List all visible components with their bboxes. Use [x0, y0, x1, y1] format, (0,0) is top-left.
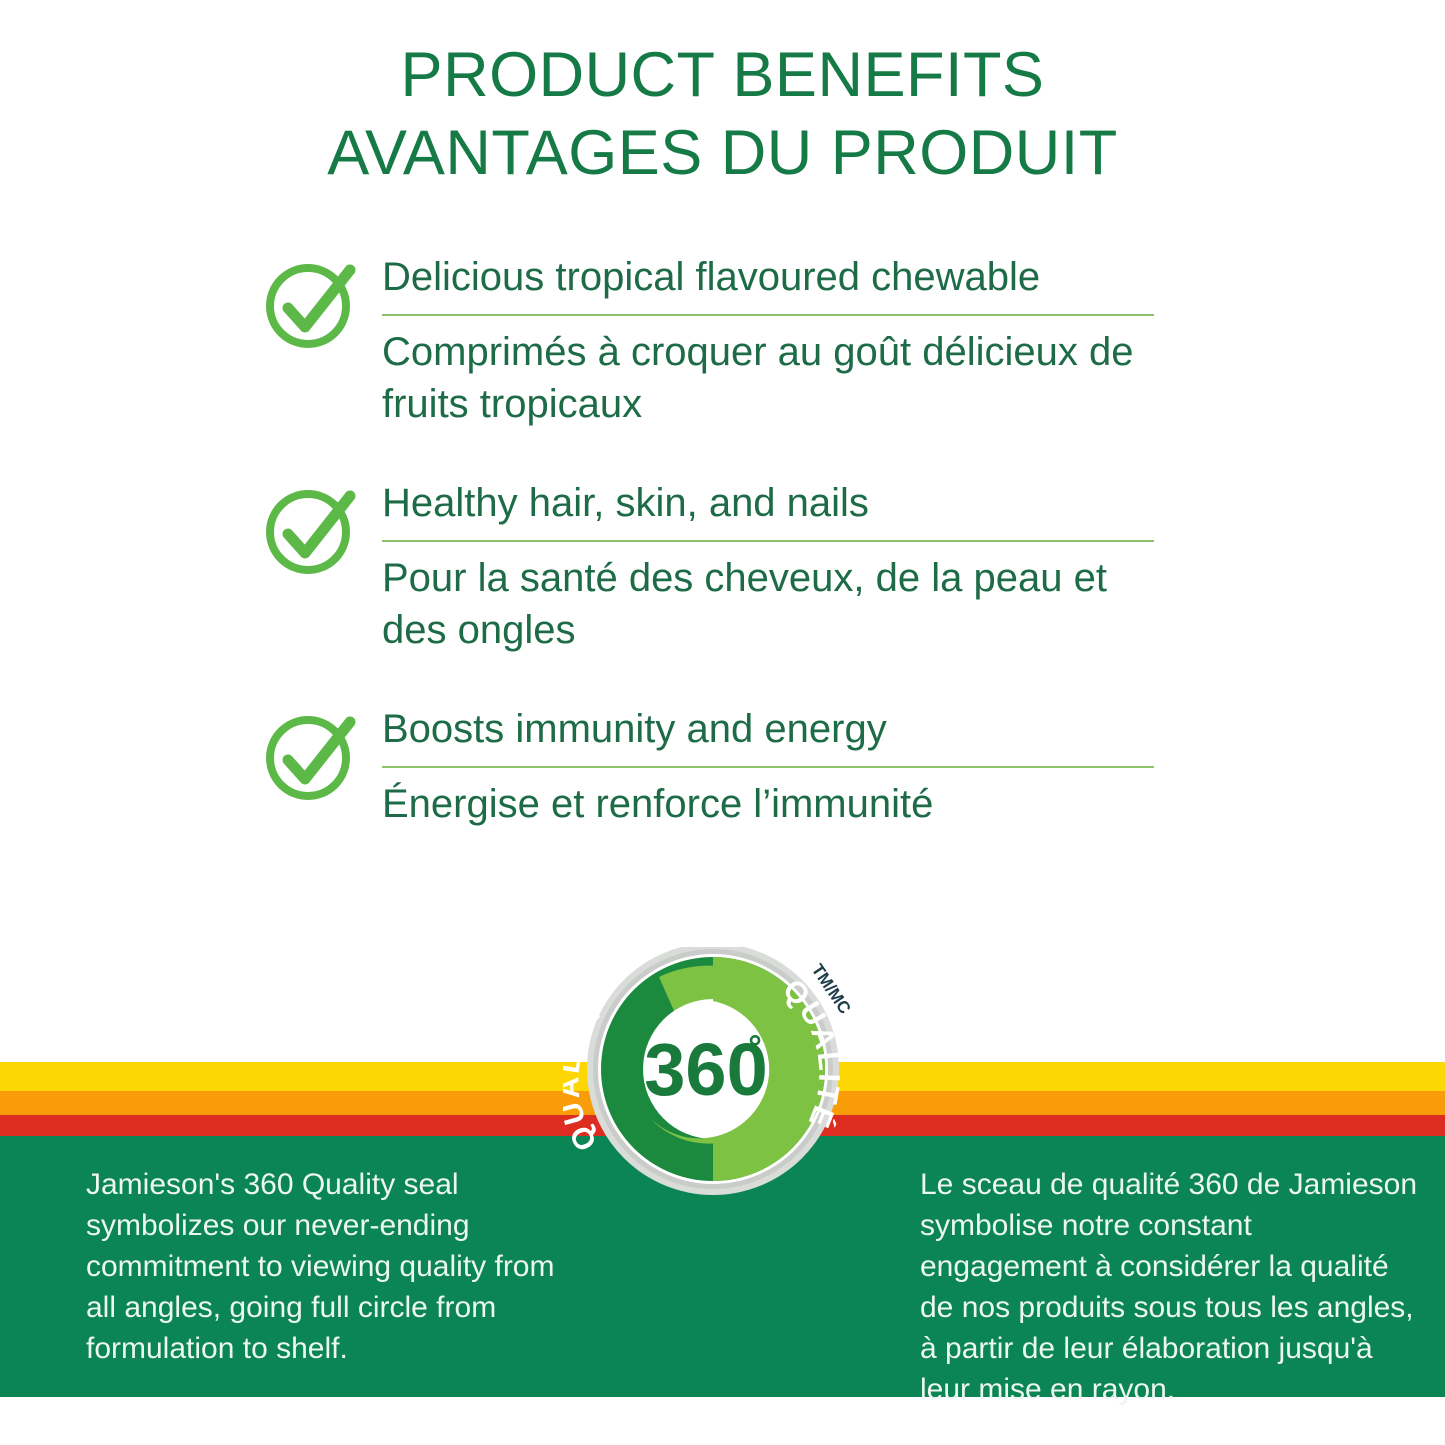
benefit-text-english: Healthy hair, skin, and nails — [382, 476, 1154, 530]
benefit-text: Healthy hair, skin, and nails Pour la sa… — [382, 472, 1154, 656]
benefit-text-french: Pour la santé des cheveux, de la peau et… — [382, 552, 1154, 656]
benefit-divider — [382, 766, 1154, 768]
footer-text-french: Le sceau de qualité 360 de Jamieson symb… — [920, 1164, 1420, 1410]
benefit-text-english: Delicious tropical flavoured chewable — [382, 250, 1154, 304]
benefit-text: Boosts immunity and energy Énergise et r… — [382, 698, 1154, 830]
page-title: PRODUCT BENEFITS AVANTAGES DU PRODUIT — [0, 36, 1445, 192]
benefit-text: Delicious tropical flavoured chewable Co… — [382, 246, 1154, 430]
check-circle-icon — [262, 256, 358, 352]
benefit-text-english: Boosts immunity and energy — [382, 702, 1154, 756]
benefit-item: Healthy hair, skin, and nails Pour la sa… — [0, 472, 1445, 656]
benefit-divider — [382, 540, 1154, 542]
seal-degree-symbol: ° — [748, 1029, 762, 1067]
check-circle-icon — [262, 708, 358, 804]
check-circle-icon — [262, 482, 358, 578]
footer-text-english: Jamieson's 360 Quality seal symbolizes o… — [86, 1164, 566, 1369]
benefit-divider — [382, 314, 1154, 316]
benefit-item: Delicious tropical flavoured chewable Co… — [0, 246, 1445, 430]
page-title-english: PRODUCT BENEFITS — [0, 36, 1445, 114]
product-benefits-infographic: PRODUCT BENEFITS AVANTAGES DU PRODUIT De… — [0, 0, 1445, 1445]
benefits-list: Delicious tropical flavoured chewable Co… — [0, 246, 1445, 872]
benefit-item: Boosts immunity and energy Énergise et r… — [0, 698, 1445, 830]
benefit-text-french: Énergise et renforce l’immunité — [382, 778, 1154, 830]
quality-360-seal: 360 ° QUALITY QUALITÉ TM/MC — [563, 947, 873, 1199]
benefit-text-french: Comprimés à croquer au goût délicieux de… — [382, 326, 1154, 430]
page-title-french: AVANTAGES DU PRODUIT — [0, 114, 1445, 192]
